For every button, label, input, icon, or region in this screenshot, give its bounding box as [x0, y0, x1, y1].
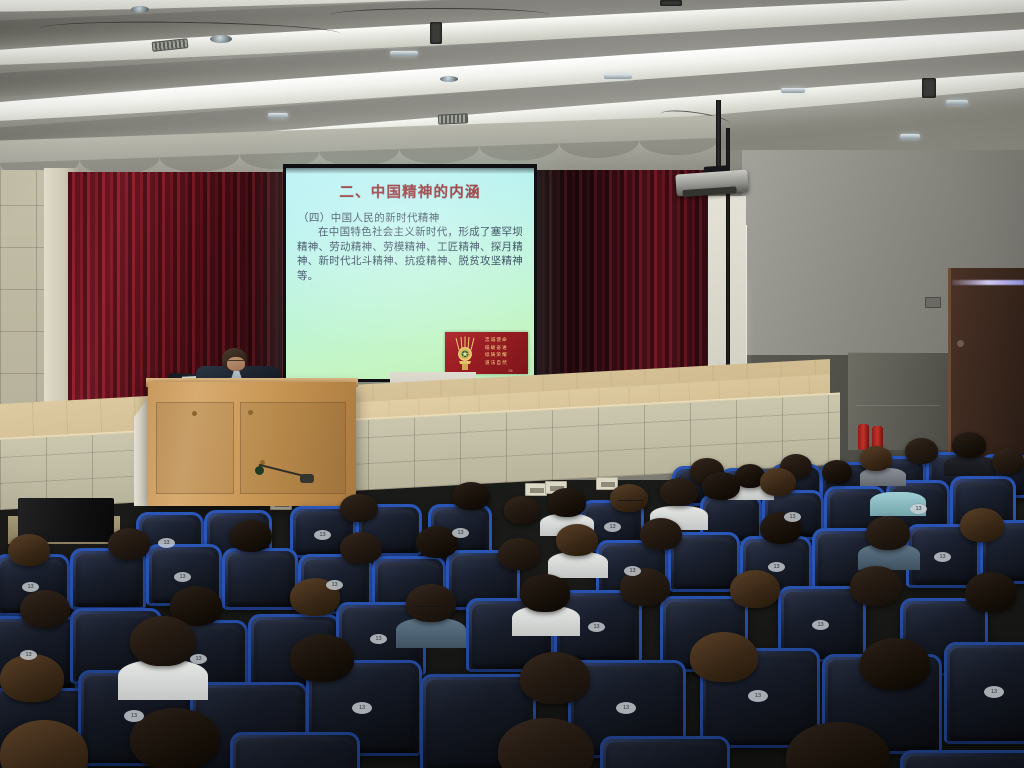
ceiling-light-fixture: [946, 100, 968, 105]
audience-head: [498, 538, 540, 570]
seat[interactable]: [900, 750, 1024, 768]
audience-head: [760, 468, 796, 496]
door-light-reflection: [952, 280, 1024, 285]
seat-number: 13: [452, 528, 469, 538]
audience-shoulders: [396, 618, 466, 648]
glasses-icon: [416, 606, 448, 609]
audience-head: [340, 494, 378, 522]
glasses-icon: [956, 446, 978, 449]
audience-head: [992, 448, 1024, 474]
audience-head: [866, 516, 910, 550]
audience-head: [8, 534, 50, 566]
audience-head: [702, 472, 740, 500]
seat[interactable]: 13: [944, 642, 1024, 744]
seat-number: 13: [352, 702, 372, 714]
audience-head: [965, 572, 1017, 612]
audience-head: [690, 632, 758, 682]
audience-head: [660, 478, 698, 506]
ceiling-mounted-unit: [430, 22, 442, 44]
projected-slide: 二、中国精神的内涵 （四）中国人民的新时代精神 在中国特色社会主义新时代，形成了…: [286, 168, 534, 379]
seat-number: 13: [784, 512, 801, 522]
glasses-icon: [228, 360, 244, 363]
audience-head: [406, 584, 456, 622]
audience-head: [20, 590, 70, 628]
slide-body-text: 在中国特色社会主义新时代，形成了塞罕坝精神、劳动精神、劳模精神、工匠精神、探月精…: [297, 226, 523, 284]
seat-number: 13: [984, 686, 1004, 698]
medal-icon: [450, 334, 480, 372]
audience-head: [640, 518, 682, 550]
ceiling-light-fixture: [268, 113, 288, 118]
seat-number: 13: [588, 622, 605, 632]
screen-top-shadow: [286, 168, 534, 174]
audience-head: [730, 570, 780, 608]
slide-title: 二、中国精神的内涵: [286, 181, 534, 202]
slide-subtitle: （四）中国人民的新时代精神: [298, 210, 440, 225]
seat-number: 13: [812, 620, 829, 630]
ceiling-light-fixture: [900, 134, 920, 139]
seat[interactable]: [222, 548, 298, 610]
audience-head: [230, 520, 272, 552]
projector-pole: [716, 100, 721, 176]
audience-head: [610, 484, 648, 512]
audience-head: [0, 654, 64, 702]
audience-head: [504, 496, 540, 524]
audience-head: [290, 634, 354, 682]
seat-number: 13: [124, 710, 144, 722]
seat-number: 13: [174, 572, 191, 582]
seat-number: 13: [748, 690, 768, 702]
ceiling-cable: [330, 8, 550, 22]
seat-number: 13: [604, 522, 621, 532]
audience-head: [850, 566, 902, 606]
audience-head: [952, 432, 986, 458]
seat-number: 13: [20, 650, 37, 660]
audience-head: [556, 524, 598, 556]
seat-number: 13: [190, 654, 207, 664]
audience-head: [905, 438, 938, 464]
audience-seating: 13 13 13 13 13 13: [0, 420, 1024, 768]
seat-number: 13: [314, 530, 331, 540]
audience-head: [340, 532, 382, 564]
audience-head: [960, 508, 1004, 542]
seat-number: 13: [158, 538, 175, 548]
seat-number: 13: [910, 504, 927, 514]
seat-number: 13: [326, 580, 343, 590]
wall-outlet-plate[interactable]: [925, 297, 941, 308]
medal-caption: 忠诚使命 砥砺奋进 续铸荣耀 道法自然: [485, 336, 525, 366]
audience-head: [130, 616, 196, 666]
ceiling-light-fixture: [390, 51, 418, 56]
seat-number: 13: [624, 566, 641, 576]
projection-screen: 二、中国精神的内涵 （四）中国人民的新时代精神 在中国特色社会主义新时代，形成了…: [283, 164, 537, 382]
audience-shoulders: [860, 468, 906, 486]
seat-number: 13: [616, 702, 636, 714]
seat[interactable]: [230, 732, 360, 768]
ceiling-light-fixture: [604, 74, 632, 79]
audience-head: [520, 652, 590, 704]
audience-shoulders: [118, 660, 208, 700]
ceiling-downlight-icon: [440, 76, 458, 82]
auditorium-photo: 二、中国精神的内涵 （四）中国人民的新时代精神 在中国特色社会主义新时代，形成了…: [0, 0, 1024, 768]
audience-head: [822, 460, 852, 484]
slide-medal-image: 忠诚使命 砥砺奋进 续铸荣耀 道法自然 01: [445, 332, 528, 374]
audience-head: [860, 638, 930, 690]
ceiling-air-grille: [438, 113, 468, 125]
medal-badge-number: 01: [509, 368, 513, 373]
audience-head: [452, 482, 490, 510]
lectern-stud: [192, 411, 197, 416]
audience-head: [520, 574, 570, 612]
audience-head: [860, 446, 892, 471]
seat-number: 13: [768, 562, 785, 572]
ceiling-light-fixture: [781, 88, 805, 93]
ceiling-downlight-icon: [131, 6, 149, 13]
door-handle[interactable]: [957, 340, 964, 347]
glasses-icon: [618, 500, 644, 503]
seat[interactable]: [600, 736, 730, 768]
ceiling-mounted-unit: [922, 78, 936, 98]
audience-head: [548, 488, 586, 517]
lectern-stud: [248, 410, 253, 415]
audience-head: [108, 528, 150, 560]
seat-number: 13: [22, 582, 39, 592]
ceiling-mounted-unit: [660, 0, 682, 6]
audience-shoulders: [944, 456, 996, 476]
seat-number: 13: [934, 552, 951, 562]
seat-number: 13: [370, 634, 387, 644]
